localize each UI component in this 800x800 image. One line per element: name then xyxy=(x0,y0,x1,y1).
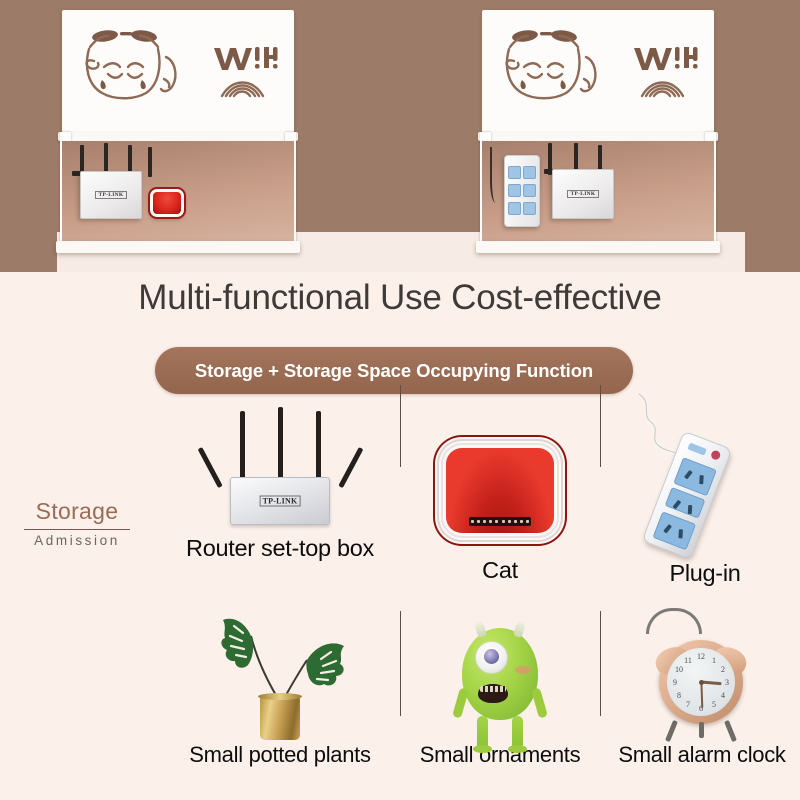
page-title: Multi-functional Use Cost-effective xyxy=(0,278,800,318)
feature-banner-label: Storage + Storage Space Occupying Functi… xyxy=(195,360,593,382)
clock-foot-right xyxy=(724,720,737,742)
modem-icon xyxy=(420,430,580,535)
router-antenna xyxy=(338,447,363,488)
grid-item-label: Cat xyxy=(420,557,580,584)
tplink-logo: TP-LINK xyxy=(567,190,598,198)
column-divider xyxy=(600,385,601,467)
power-strip-indicator xyxy=(710,449,722,461)
cabinet-front-panel xyxy=(62,10,294,132)
tplink-logo: TP-LINK xyxy=(260,496,301,507)
socket xyxy=(508,184,521,197)
router-antenna-in-cabinet xyxy=(148,147,152,177)
clock-numeral: 12 xyxy=(696,652,706,661)
cabinet: TP-LINK xyxy=(482,10,714,260)
clock-foot-center xyxy=(699,722,704,738)
power-cord-in-cabinet xyxy=(490,147,504,203)
clock-minute-hand xyxy=(700,682,703,708)
router-antenna xyxy=(198,447,223,488)
modem-body xyxy=(446,448,554,533)
monster-arm-left xyxy=(452,687,469,718)
modem-led-panel xyxy=(469,517,531,526)
monster-leg-left xyxy=(477,716,488,750)
wifi-cutout-icon xyxy=(212,44,280,100)
clock-numeral: 8 xyxy=(674,691,684,700)
photo-cabinet-router-modem: TP-LINK xyxy=(0,0,400,272)
power-strip-icon xyxy=(625,398,785,560)
wifi-router-icon: TP-LINK xyxy=(200,405,360,535)
clock-numeral: 2 xyxy=(718,665,728,674)
clock-numeral: 5 xyxy=(709,700,719,709)
clock-hour-hand xyxy=(701,681,721,686)
socket xyxy=(508,202,521,215)
monster-figurine-icon xyxy=(418,612,582,742)
tplink-box-in-cabinet: TP-LINK xyxy=(80,171,142,219)
column-divider xyxy=(600,611,601,716)
column-divider xyxy=(400,385,401,467)
storage-badge-subtitle: Admission xyxy=(22,533,132,548)
cat-face-cutout-icon xyxy=(82,27,186,109)
router-antenna xyxy=(240,411,245,481)
cabinet-interior: TP-LINK xyxy=(482,141,714,241)
power-strip-sockets xyxy=(508,164,536,217)
grid-item-small-ornaments: Small ornaments xyxy=(410,612,590,768)
socket xyxy=(652,511,696,550)
grid-item-label: Plug-in xyxy=(625,560,785,587)
socket xyxy=(523,202,536,215)
photo-cabinet-powerstrip-router: TP-LINK xyxy=(400,0,800,272)
storage-badge-title: Storage xyxy=(22,498,132,525)
router-antenna xyxy=(278,407,283,481)
clock-numeral: 3 xyxy=(722,678,732,687)
cabinet-shelf-rail xyxy=(478,132,718,141)
clock-body: 12 1 2 3 4 5 6 7 8 9 10 11 xyxy=(659,640,743,724)
clock-numeral: 11 xyxy=(683,656,693,665)
power-strip-in-cabinet xyxy=(504,155,540,227)
grid-item-cat-modem: Cat xyxy=(420,430,580,584)
clock-handle xyxy=(646,608,702,634)
feature-banner: Storage + Storage Space Occupying Functi… xyxy=(155,347,633,394)
monster-blush xyxy=(515,666,531,674)
power-strip-switch xyxy=(687,443,706,456)
monster-horn-right xyxy=(513,620,526,638)
grid-item-label: Small potted plants xyxy=(180,742,380,768)
router-chassis: TP-LINK xyxy=(230,477,330,525)
storage-badge: Storage Admission xyxy=(22,498,132,548)
storage-badge-divider xyxy=(24,529,130,530)
grid-item-small-potted-plants: Small potted plants xyxy=(180,610,380,768)
cabinet-base xyxy=(476,241,720,253)
monster-mouth xyxy=(478,684,508,703)
socket xyxy=(523,184,536,197)
monster-eye xyxy=(475,641,508,674)
tplink-logo: TP-LINK xyxy=(95,191,126,199)
cabinet-front-panel xyxy=(482,10,714,132)
photo-band: TP-LINK xyxy=(0,0,800,272)
monster-arm-right xyxy=(531,687,548,718)
potted-plant-icon xyxy=(203,610,357,742)
red-modem-in-cabinet xyxy=(150,189,184,217)
monster-leg-right xyxy=(512,716,523,750)
router-antenna xyxy=(316,411,321,481)
column-divider xyxy=(400,611,401,716)
wifi-cutout-icon xyxy=(632,44,700,100)
grid-item-label: Router set-top box xyxy=(182,535,378,562)
clock-numeral: 9 xyxy=(670,678,680,687)
grid-item-plug-in: Plug-in xyxy=(625,398,785,587)
grid-item-label: Small alarm clock xyxy=(612,742,792,768)
cabinet: TP-LINK xyxy=(62,10,294,260)
cat-face-cutout-icon xyxy=(502,27,606,109)
alarm-clock-icon: 12 1 2 3 4 5 6 7 8 9 10 11 xyxy=(632,612,772,742)
clock-numeral: 4 xyxy=(718,691,728,700)
cabinet-interior: TP-LINK xyxy=(62,141,294,241)
monster-body xyxy=(462,628,538,720)
grid-item-router-set-top-box: TP-LINK Router set-top box xyxy=(182,405,378,562)
monster-horn-left xyxy=(474,620,487,638)
grid-item-small-alarm-clock: 12 1 2 3 4 5 6 7 8 9 10 11 Small xyxy=(612,612,792,768)
clock-numeral: 7 xyxy=(683,700,693,709)
clock-hub xyxy=(699,680,704,685)
tplink-box-in-cabinet: TP-LINK xyxy=(552,169,614,219)
cabinet-base xyxy=(56,241,300,253)
clock-numeral: 1 xyxy=(709,656,719,665)
clock-numeral: 10 xyxy=(674,665,684,674)
cabinet-shelf-rail xyxy=(58,132,298,141)
clock-face: 12 1 2 3 4 5 6 7 8 9 10 11 xyxy=(667,648,735,716)
product-infographic: TP-LINK xyxy=(0,0,800,800)
grid-item-label: Small ornaments xyxy=(410,742,590,768)
socket xyxy=(523,166,536,179)
socket xyxy=(508,166,521,179)
clock-foot-left xyxy=(665,720,678,742)
plant-pot xyxy=(260,696,300,740)
